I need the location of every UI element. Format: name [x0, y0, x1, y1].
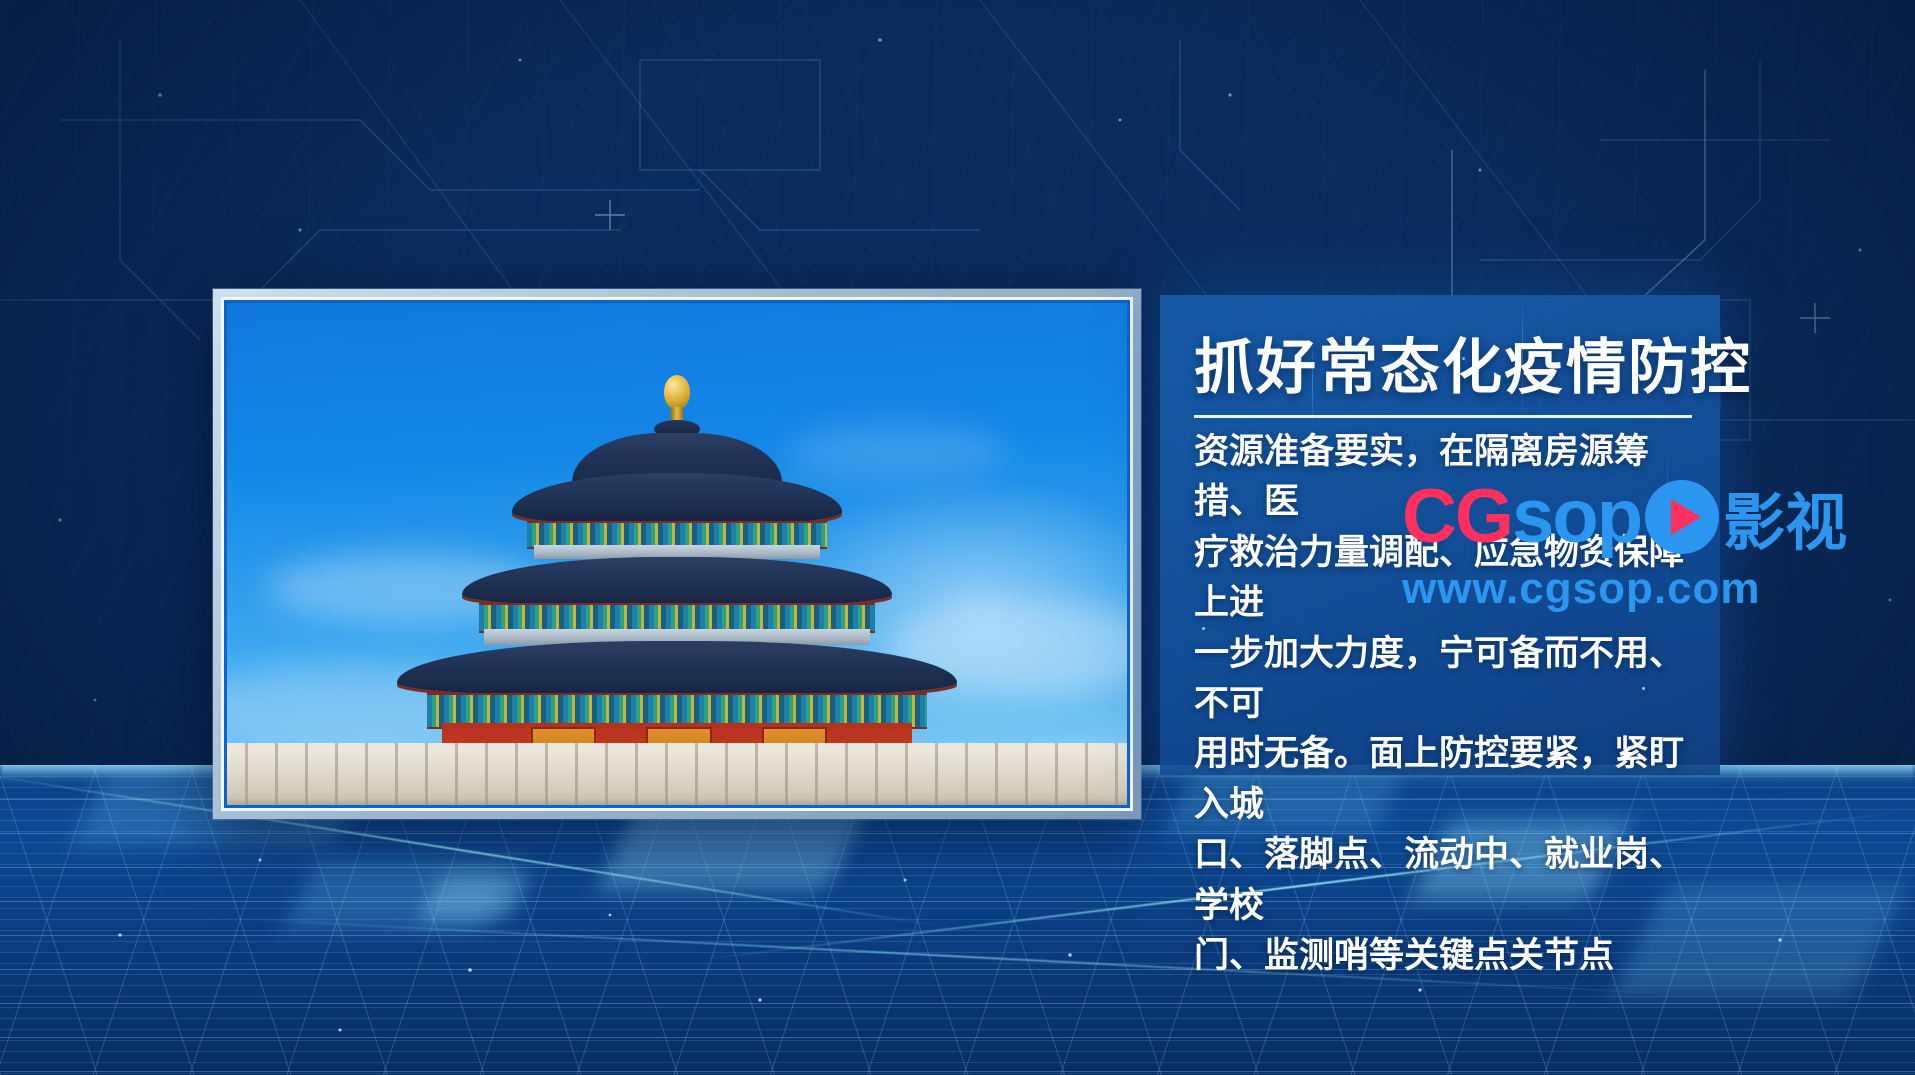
body-line: 门、监测哨等关键点关节点	[1194, 931, 1702, 981]
page-title: 抓好常态化疫情防控	[1194, 319, 1692, 406]
temple-of-heaven-photo	[227, 303, 1127, 805]
photo-frame	[213, 289, 1141, 819]
body-line: 用时无备。面上防控要紧，紧盯入城	[1194, 729, 1702, 830]
text-panel: 抓好常态化疫情防控 资源准备要实，在隔离房源筹措、医 疗救治力量调配、应急物资保…	[1160, 295, 1720, 775]
body-line: 口、落脚点、流动中、就业岗、学校	[1194, 830, 1702, 931]
photo-frame-inner-border	[221, 297, 1133, 811]
body-line: 资源准备要实，在隔离房源筹措、医	[1194, 427, 1702, 528]
body-line: 疗救治力量调配、应急物资保障上进	[1194, 528, 1702, 629]
panel-body-text: 资源准备要实，在隔离房源筹措、医 疗救治力量调配、应急物资保障上进 一步加大力度…	[1194, 427, 1702, 981]
title-underline	[1194, 415, 1692, 418]
temple-building	[327, 375, 1027, 805]
body-line: 一步加大力度，宁可备而不用、不可	[1194, 629, 1702, 730]
scene-root: 抓好常态化疫情防控 资源准备要实，在隔离房源筹措、医 疗救治力量调配、应急物资保…	[0, 0, 1915, 1075]
